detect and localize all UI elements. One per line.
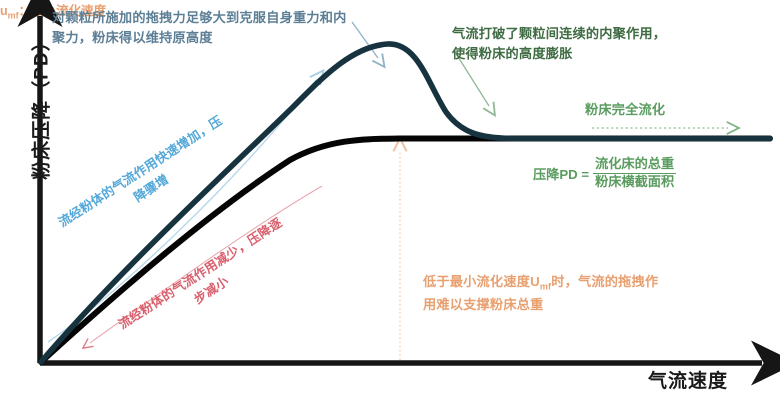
note-low-velocity-subscript: mf [540,282,551,292]
formula-numerator: 流化床的总重 [593,156,676,173]
note-cohesion-broken-bed-expands: 气流打破了颗粒间连续的内聚作用，使得粉床的高度膨胀 [452,24,672,65]
note-fully-fluidized: 粉床完全流化 [585,100,665,120]
note-below-minimum-fluidization: 低于最小流化速度Umf时，气流的拖拽作用难以支撑粉床总重 [423,272,668,315]
note-drag-force-overcomes-gravity: 对颗粒所施加的拖拽力足够大到克服自身重力和内聚力，粉床得以维持原高度 [52,8,352,49]
y-axis-title: 粉床压降（PD） [27,6,54,206]
formula-fraction: 流化床的总重 粉床横截面积 [593,156,676,190]
formula-left-hand-side: 压降PD = [533,164,589,183]
pressure-drop-formula: 压降PD = 流化床的总重 粉床横截面积 [533,156,676,190]
fluidized-bed-pressure-drop-figure: 粉床压降（PD） 气流速度 对颗粒所施加的拖拽力足够大到克服自身重力和内聚力，粉… [0,0,780,404]
note-low-velocity-head: 低于最小流化速度U [423,274,540,289]
x-axis-title: 气流速度 [648,366,728,393]
formula-denominator: 粉床横截面积 [593,173,676,191]
